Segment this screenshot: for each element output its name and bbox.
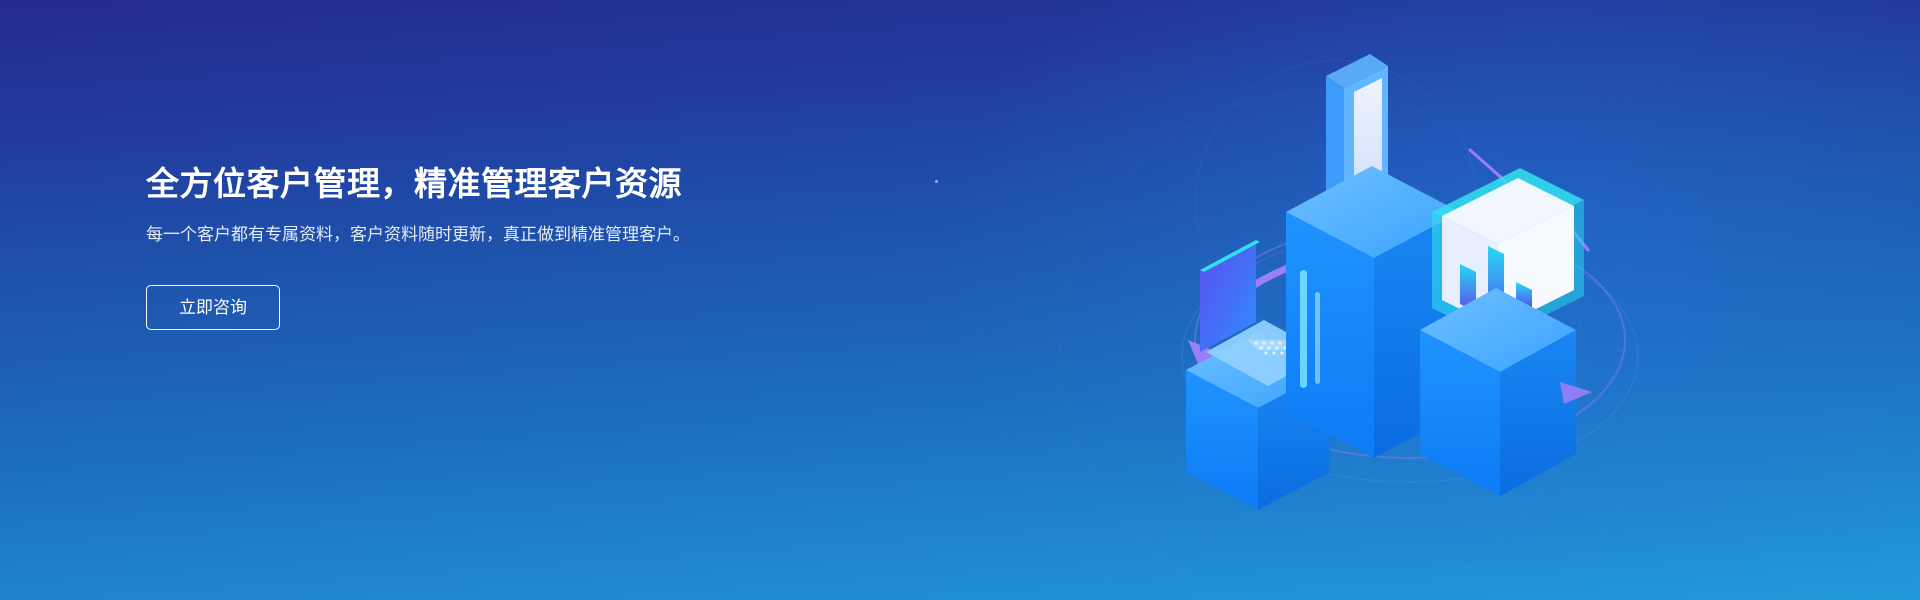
page-title: 全方位客户管理，精准管理客户资源 <box>146 163 786 204</box>
consult-now-button[interactable]: 立即咨询 <box>146 285 280 330</box>
hero-copy-block: 全方位客户管理，精准管理客户资源 每一个客户都有专属资料，客户资料随时更新，真正… <box>146 163 786 330</box>
sparkle-dot <box>935 180 938 183</box>
hero-subtitle: 每一个客户都有专属资料，客户资料随时更新，真正做到精准管理客户。 <box>146 222 734 248</box>
hero-banner: 全方位客户管理，精准管理客户资源 每一个客户都有专属资料，客户资料随时更新，真正… <box>0 0 1920 600</box>
hero-illustration <box>1140 40 1700 560</box>
bar-chart-screen-on-pedestal <box>1420 168 1584 496</box>
